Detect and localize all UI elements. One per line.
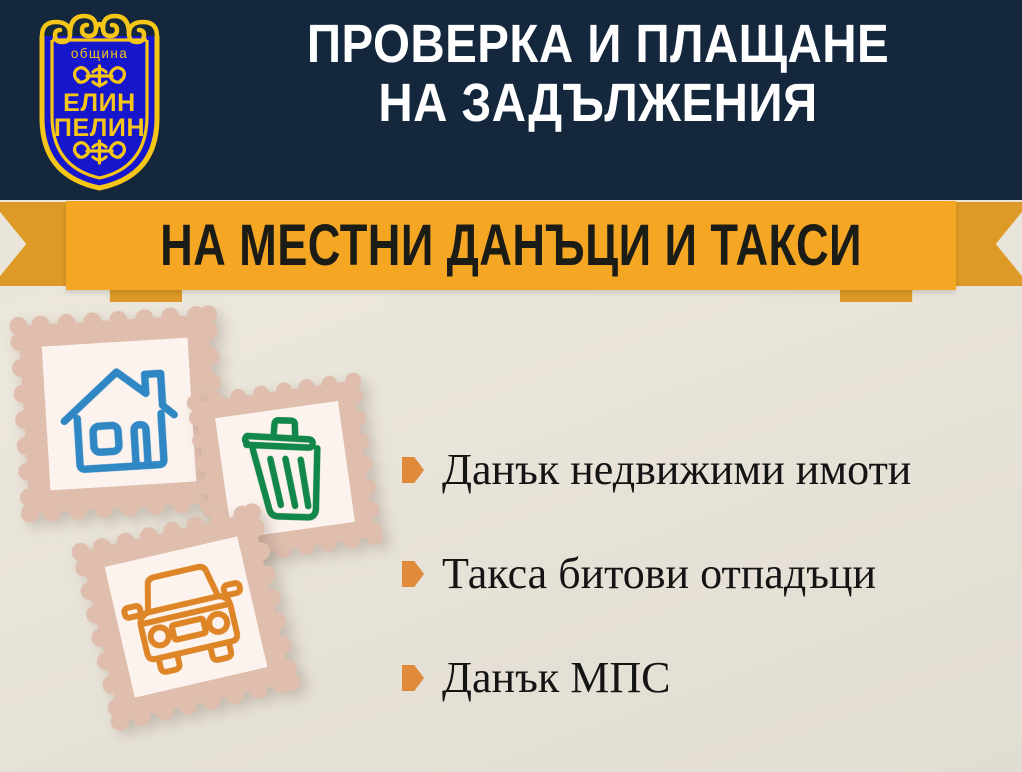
- stamp-group: [0, 296, 420, 772]
- list-item[interactable]: Данък МПС: [402, 626, 1014, 730]
- list-item[interactable]: Данък недвижими имоти: [402, 418, 1014, 522]
- list-item-label: Данък МПС: [442, 656, 670, 700]
- list-item-label: Данък недвижими имоти: [442, 448, 911, 492]
- crest-top-word: община: [71, 46, 128, 61]
- list-item-label: Такса битови отпадъци: [442, 552, 876, 596]
- header-bar: община ЕЛИН ПЕЛИН ПРОВЕРКА И ПЛАЩАНЕ НА …: [0, 0, 1022, 200]
- bullet-arrow-icon: [402, 665, 424, 691]
- page-title: ПРОВЕРКА И ПЛАЩАНЕ НА ЗАДЪЛЖЕНИЯ: [230, 16, 966, 132]
- crest-name-line2: ПЕЛИН: [54, 114, 145, 142]
- subtitle-ribbon: НА МЕСТНИ ДАНЪЦИ И ТАКСИ: [0, 198, 1022, 306]
- crest-name-line1: ЕЛИН: [63, 89, 136, 117]
- list-item[interactable]: Такса битови отпадъци: [402, 522, 1014, 626]
- bullet-arrow-icon: [402, 457, 424, 483]
- ribbon-label: НА МЕСТНИ ДАНЪЦИ И ТАКСИ: [164, 201, 858, 290]
- bullet-arrow-icon: [402, 561, 424, 587]
- tax-type-list: Данък недвижими имоти Такса битови отпад…: [402, 418, 1014, 730]
- municipality-crest: община ЕЛИН ПЕЛИН: [22, 6, 177, 192]
- poster-root: община ЕЛИН ПЕЛИН ПРОВЕРКА И ПЛАЩАНЕ НА …: [0, 0, 1022, 772]
- page-title-line-1: ПРОВЕРКА И ПЛАЩАНЕ: [230, 16, 966, 73]
- page-title-line-2: НА ЗАДЪЛЖЕНИЯ: [230, 75, 966, 132]
